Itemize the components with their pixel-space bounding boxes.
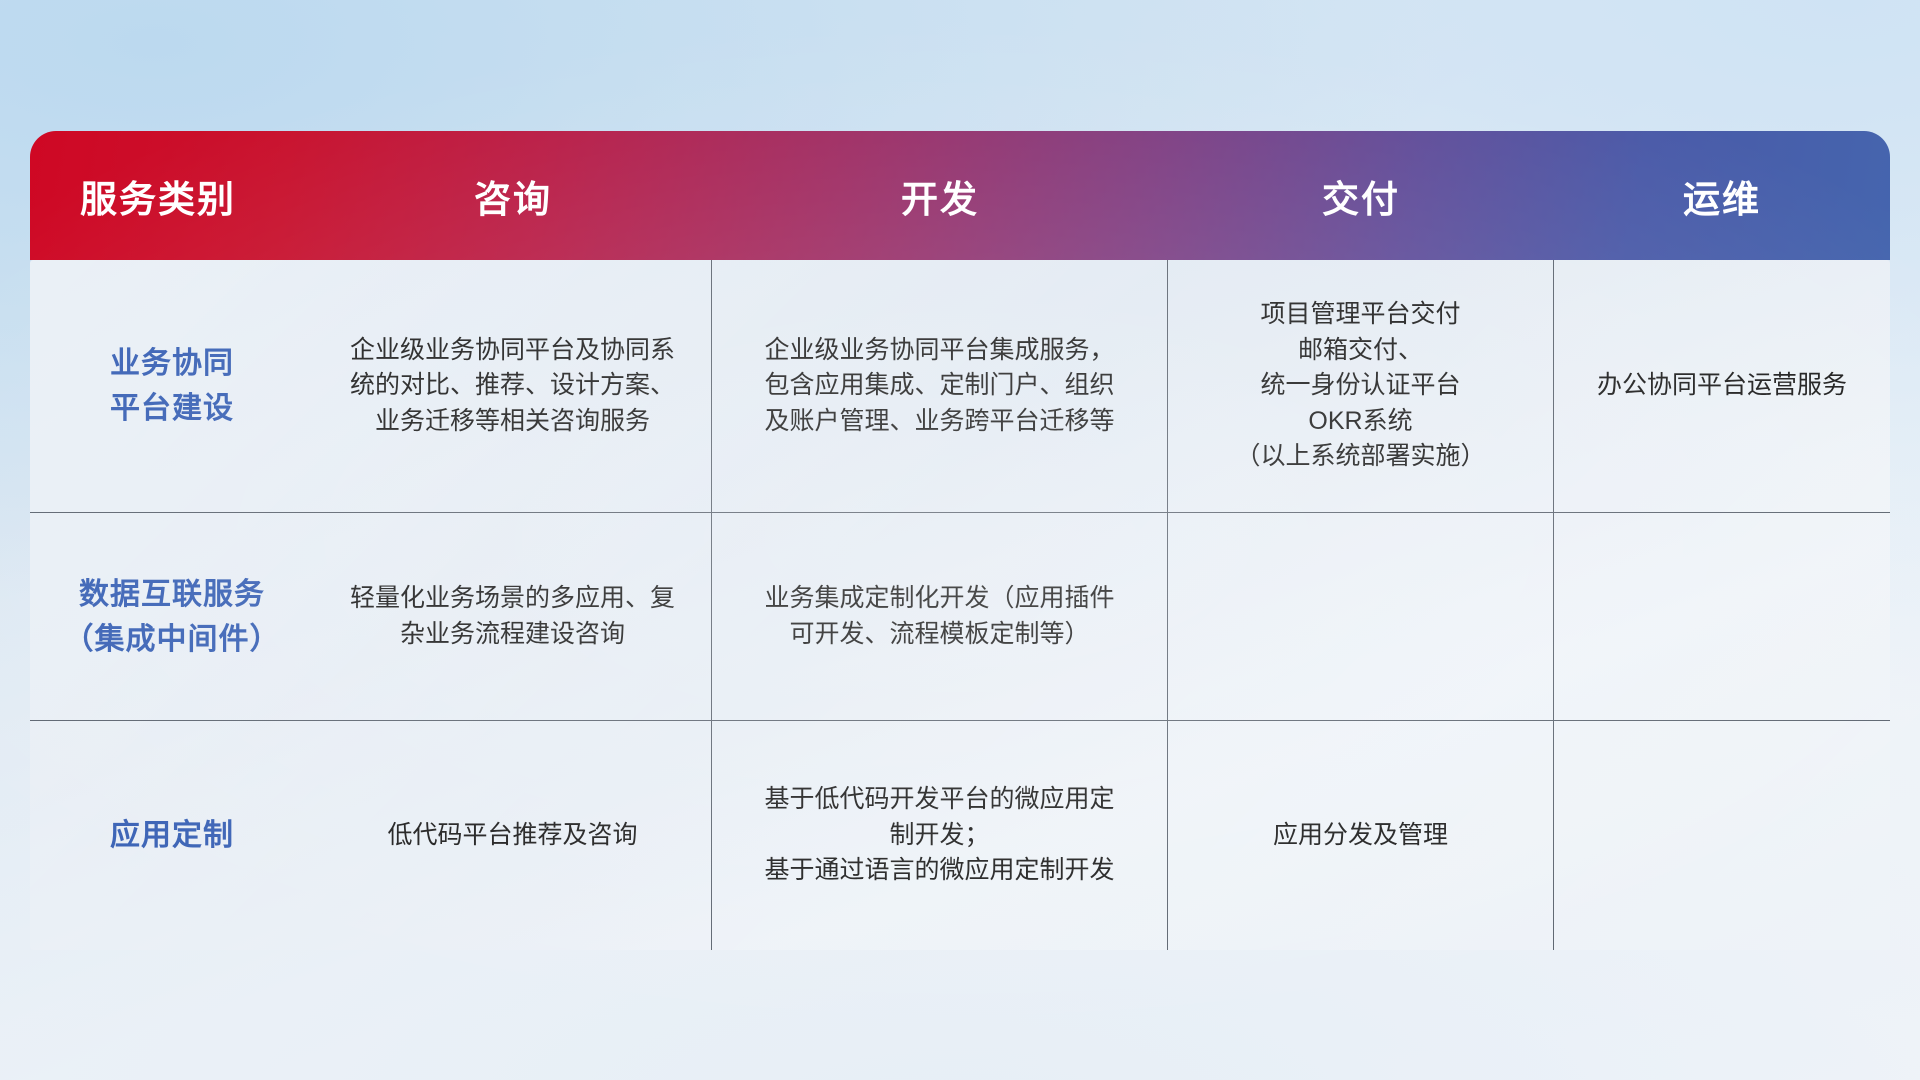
service-category-table: 服务类别 咨询 开发 交付 运维 业务协同 平台建设 企业级业务协同平台及协同系…: [30, 131, 1890, 950]
cell-category: 应用定制: [30, 721, 314, 950]
cell-development: 业务集成定制化开发（应用插件 可开发、流程模板定制等）: [712, 513, 1168, 720]
column-header-delivery: 交付: [1168, 169, 1554, 223]
cell-category: 业务协同 平台建设: [30, 260, 314, 512]
table-row: 应用定制 低代码平台推荐及咨询 基于低代码开发平台的微应用定 制开发； 基于通过…: [30, 721, 1890, 950]
table-row: 业务协同 平台建设 企业级业务协同平台及协同系 统的对比、推荐、设计方案、 业务…: [30, 260, 1890, 513]
table-row: 数据互联服务 （集成中间件） 轻量化业务场景的多应用、复 杂业务流程建设咨询 业…: [30, 513, 1890, 721]
cell-delivery: [1168, 513, 1554, 720]
cell-consulting: 轻量化业务场景的多应用、复 杂业务流程建设咨询: [314, 513, 712, 720]
slide-canvas: 服务类别 咨询 开发 交付 运维 业务协同 平台建设 企业级业务协同平台及协同系…: [0, 0, 1920, 1080]
cell-delivery: 应用分发及管理: [1168, 721, 1554, 950]
column-header-development: 开发: [712, 169, 1168, 223]
table-body: 业务协同 平台建设 企业级业务协同平台及协同系 统的对比、推荐、设计方案、 业务…: [30, 260, 1890, 950]
cell-development: 基于低代码开发平台的微应用定 制开发； 基于通过语言的微应用定制开发: [712, 721, 1168, 950]
column-header-service-category: 服务类别: [30, 169, 314, 223]
cell-operations: 办公协同平台运营服务: [1554, 260, 1890, 512]
cell-operations: [1554, 513, 1890, 720]
table-header-row: 服务类别 咨询 开发 交付 运维: [30, 131, 1890, 260]
cell-category: 数据互联服务 （集成中间件）: [30, 513, 314, 720]
cell-delivery: 项目管理平台交付 邮箱交付、 统一身份认证平台 OKR系统 （以上系统部署实施）: [1168, 260, 1554, 512]
cell-operations: [1554, 721, 1890, 950]
cell-consulting: 低代码平台推荐及咨询: [314, 721, 712, 950]
column-header-consulting: 咨询: [314, 169, 712, 223]
cell-consulting: 企业级业务协同平台及协同系 统的对比、推荐、设计方案、 业务迁移等相关咨询服务: [314, 260, 712, 512]
cell-development: 企业级业务协同平台集成服务， 包含应用集成、定制门户、组织 及账户管理、业务跨平…: [712, 260, 1168, 512]
column-header-operations: 运维: [1554, 169, 1890, 223]
